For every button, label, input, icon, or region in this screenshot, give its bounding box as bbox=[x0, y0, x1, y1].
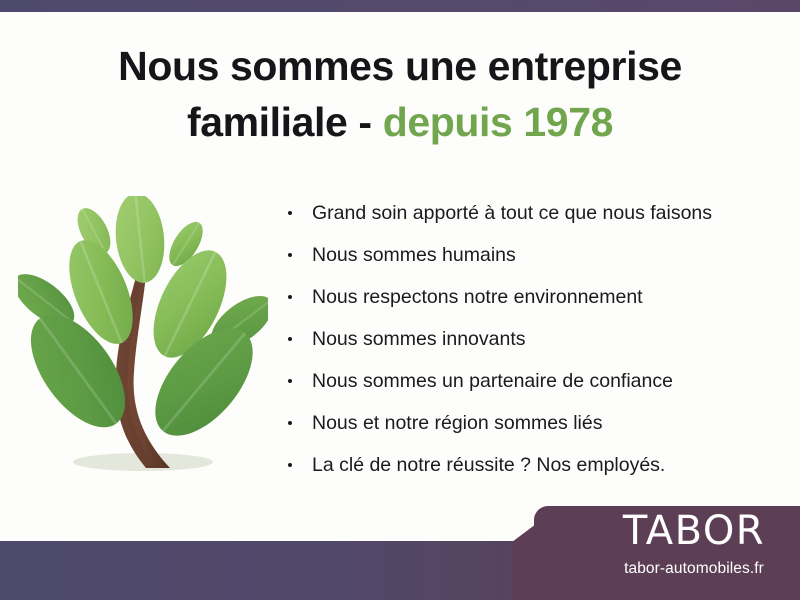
list-item: Nous respectons notre environnement bbox=[284, 276, 784, 318]
list-item-label: Nous sommes innovants bbox=[312, 328, 526, 350]
top-accent-bar bbox=[0, 0, 800, 12]
bullet-dot-icon bbox=[288, 211, 292, 215]
page-title: Nous sommes une entreprise familiale - d… bbox=[60, 38, 740, 150]
list-item-label: Nous sommes un partenaire de confiance bbox=[312, 370, 673, 392]
headline-line-2-plain: familiale - bbox=[187, 99, 372, 145]
headline-line-2: familiale - depuis 1978 bbox=[60, 94, 740, 150]
list-item: Grand soin apporté à tout ce que nous fa… bbox=[284, 192, 784, 234]
list-item: Nous sommes un partenaire de confiance bbox=[284, 360, 784, 402]
bullet-dot-icon bbox=[288, 295, 292, 299]
brand-website-url: tabor-automobiles.fr bbox=[596, 560, 792, 578]
bullet-dot-icon bbox=[288, 253, 292, 257]
list-item-label: Nous sommes humains bbox=[312, 244, 516, 266]
list-item-label: Nous et notre région sommes liés bbox=[312, 412, 602, 434]
list-item: Nous sommes innovants bbox=[284, 318, 784, 360]
value-proposition-list: Grand soin apporté à tout ce que nous fa… bbox=[284, 192, 784, 486]
tree-illustration bbox=[18, 196, 268, 481]
list-item-label: Grand soin apporté à tout ce que nous fa… bbox=[312, 202, 712, 224]
list-item-label: La clé de notre réussite ? Nos employés. bbox=[312, 454, 665, 476]
bullet-dot-icon bbox=[288, 463, 292, 467]
list-item-label: Nous respectons notre environnement bbox=[312, 286, 643, 308]
list-item: Nous et notre région sommes liés bbox=[284, 402, 784, 444]
list-item: La clé de notre réussite ? Nos employés. bbox=[284, 444, 784, 486]
logo-panel-corner bbox=[534, 506, 560, 526]
bullet-dot-icon bbox=[288, 337, 292, 341]
list-item: Nous sommes humains bbox=[284, 234, 784, 276]
headline-accent-text: depuis 1978 bbox=[383, 99, 613, 145]
headline-line-1: Nous sommes une entreprise bbox=[118, 43, 682, 89]
bullet-dot-icon bbox=[288, 421, 292, 425]
slide-canvas: Nous sommes une entreprise familiale - d… bbox=[0, 0, 800, 600]
brand-wordmark: TABOR bbox=[596, 511, 792, 551]
bullet-dot-icon bbox=[288, 379, 292, 383]
